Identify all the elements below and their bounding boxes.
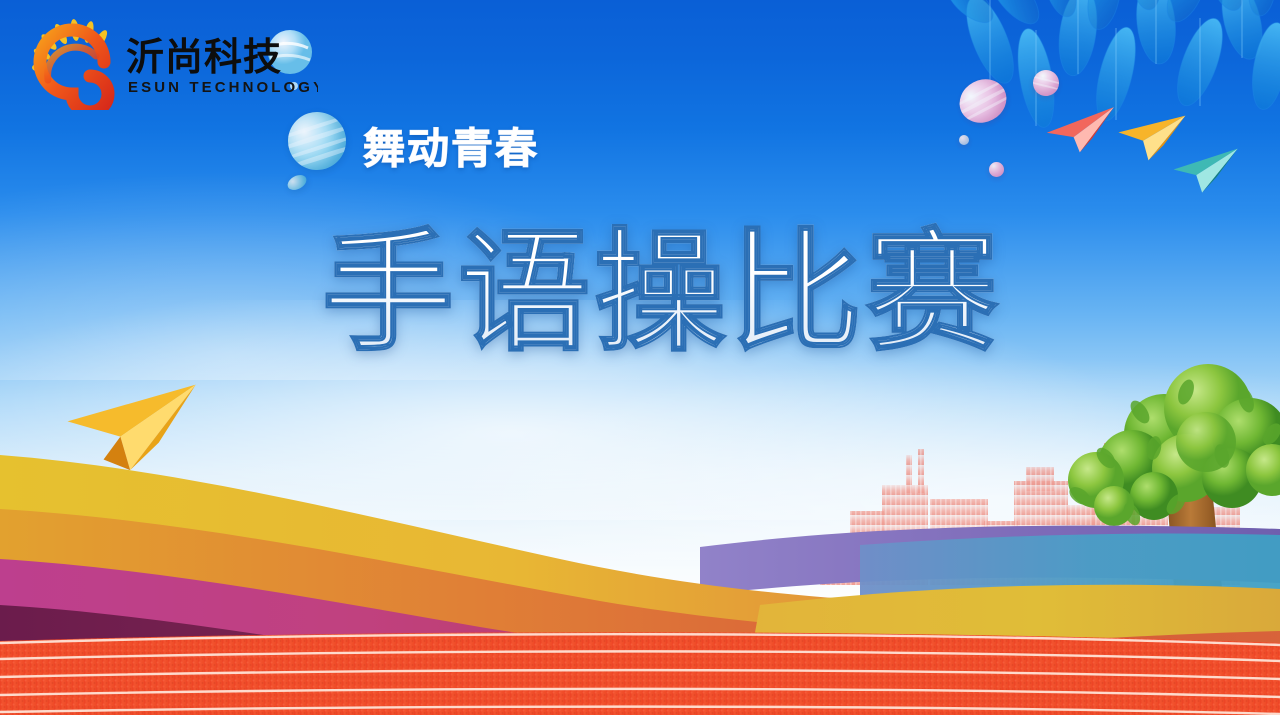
balloon-pink-tiny-b: [989, 162, 1004, 177]
brand-logo[interactable]: 沂尚科技 ESUN TECHNOLOGY: [18, 18, 318, 110]
paper-plane-teal: [1170, 146, 1244, 197]
poster-canvas: 沂尚科技 ESUN TECHNOLOGY: [0, 0, 1280, 715]
balloon-pink-tiny-a: [959, 135, 969, 145]
poster-title-group: 手语操比赛: [322, 218, 1002, 368]
balloon-blue-small: [285, 172, 309, 193]
balloon-blue-large: [280, 104, 353, 177]
brand-name-cn: 沂尚科技: [126, 35, 282, 79]
brand-name-en: ESUN TECHNOLOGY: [128, 79, 318, 96]
poster-title: 手语操比赛: [322, 216, 1002, 370]
poster-subtitle: 舞动青春: [363, 128, 539, 170]
page-title: 手语操比赛: [322, 218, 1002, 368]
balloon-stripes: [280, 104, 353, 177]
running-track: [0, 625, 1280, 715]
